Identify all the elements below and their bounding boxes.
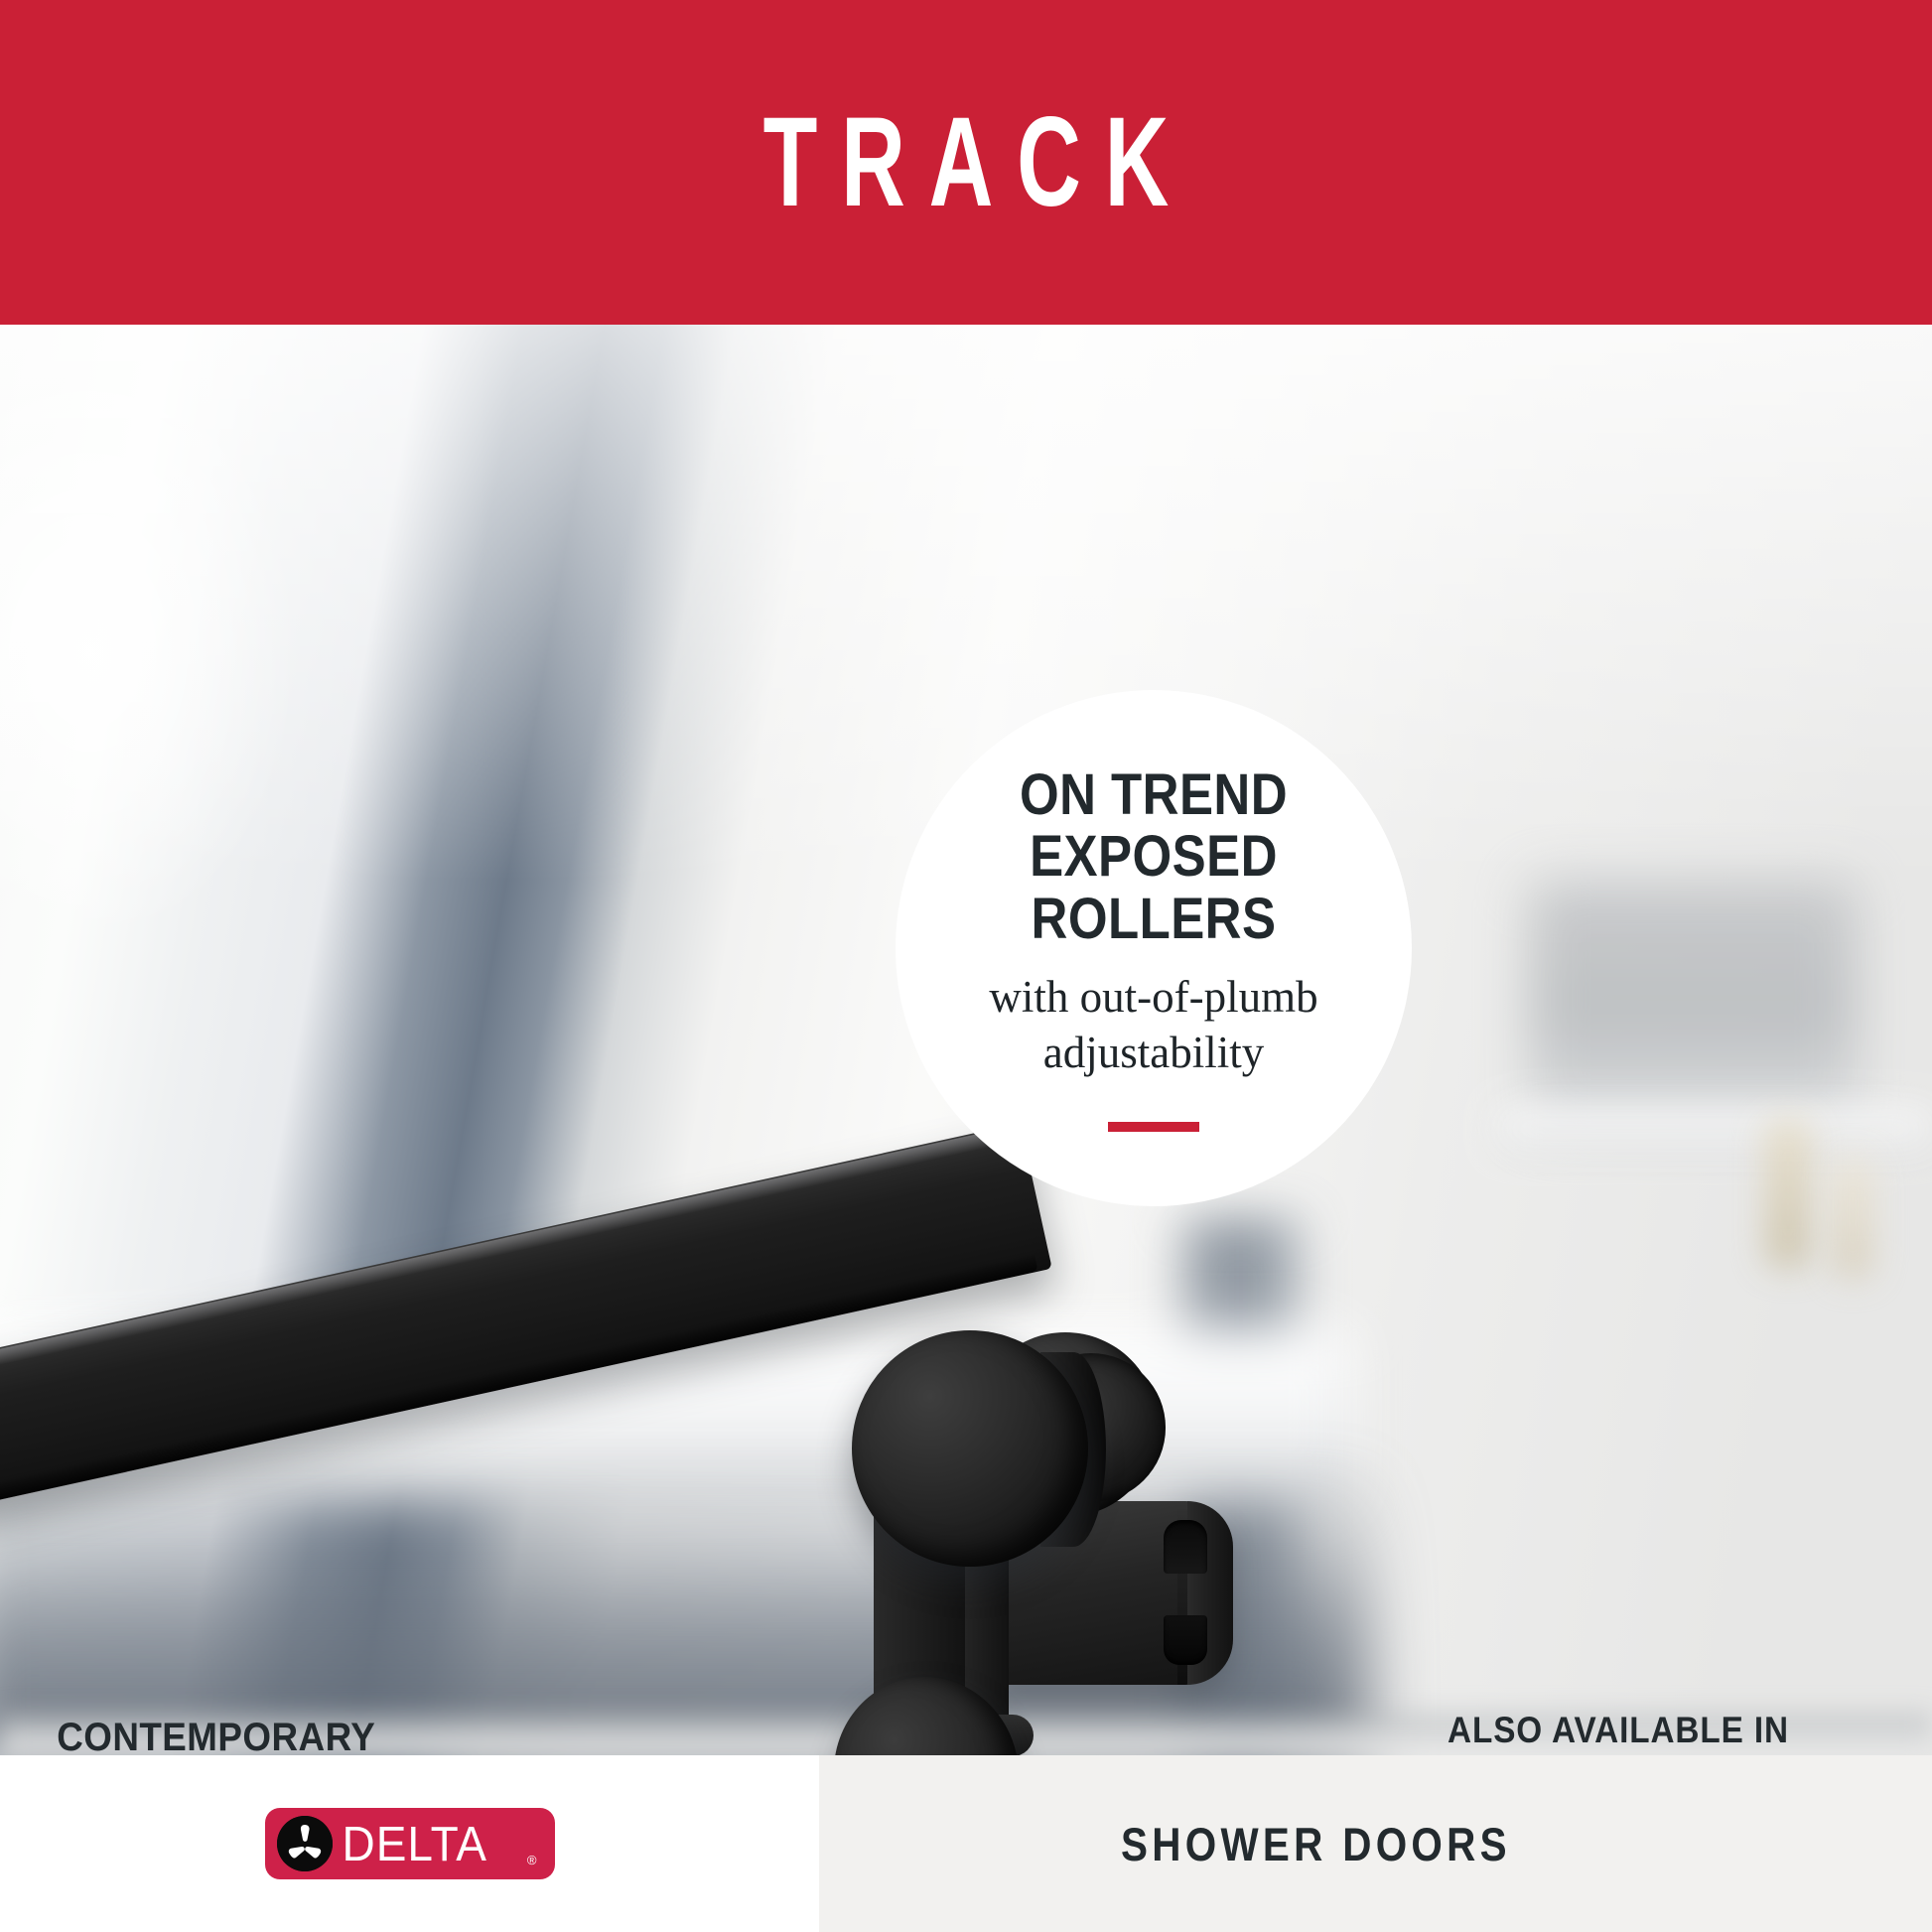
footer-brand-panel: DELTA ®	[0, 1755, 819, 1932]
product-photo: ON TREND EXPOSED ROLLERS with out-of-plu…	[0, 325, 1932, 1755]
footer: DELTA ® SHOWER DOORS	[0, 1755, 1932, 1932]
page-title: TRACK	[740, 99, 1192, 226]
roller-wheel-upper	[852, 1330, 1088, 1567]
footer-category-label: SHOWER DOORS	[1121, 1817, 1511, 1871]
product-marketing-card: TRACK	[0, 0, 1932, 1932]
delta-logo[interactable]: DELTA ®	[265, 1808, 555, 1879]
feature-callout-badge: ON TREND EXPOSED ROLLERS with out-of-plu…	[896, 690, 1412, 1206]
footer-category-panel: SHOWER DOORS	[819, 1755, 1932, 1932]
callout-heading: ON TREND EXPOSED ROLLERS	[958, 764, 1349, 951]
callout-subheading: with out-of-plumb adjustability	[989, 969, 1317, 1081]
delta-wordmark: DELTA	[343, 1820, 487, 1868]
product-finish-caption: CONTEMPORARY TRACK IN MATTE BLACK	[57, 1715, 358, 1755]
finishes-heading: ALSO AVAILABLE IN	[1395, 1710, 1842, 1751]
track-channel-notch-bottom	[1164, 1615, 1207, 1665]
callout-rule	[1108, 1122, 1199, 1132]
delta-triangle-icon	[277, 1816, 333, 1871]
track-channel-notch-top	[1164, 1520, 1207, 1574]
registered-trademark-icon: ®	[527, 1853, 537, 1867]
header-banner: TRACK	[0, 0, 1932, 325]
